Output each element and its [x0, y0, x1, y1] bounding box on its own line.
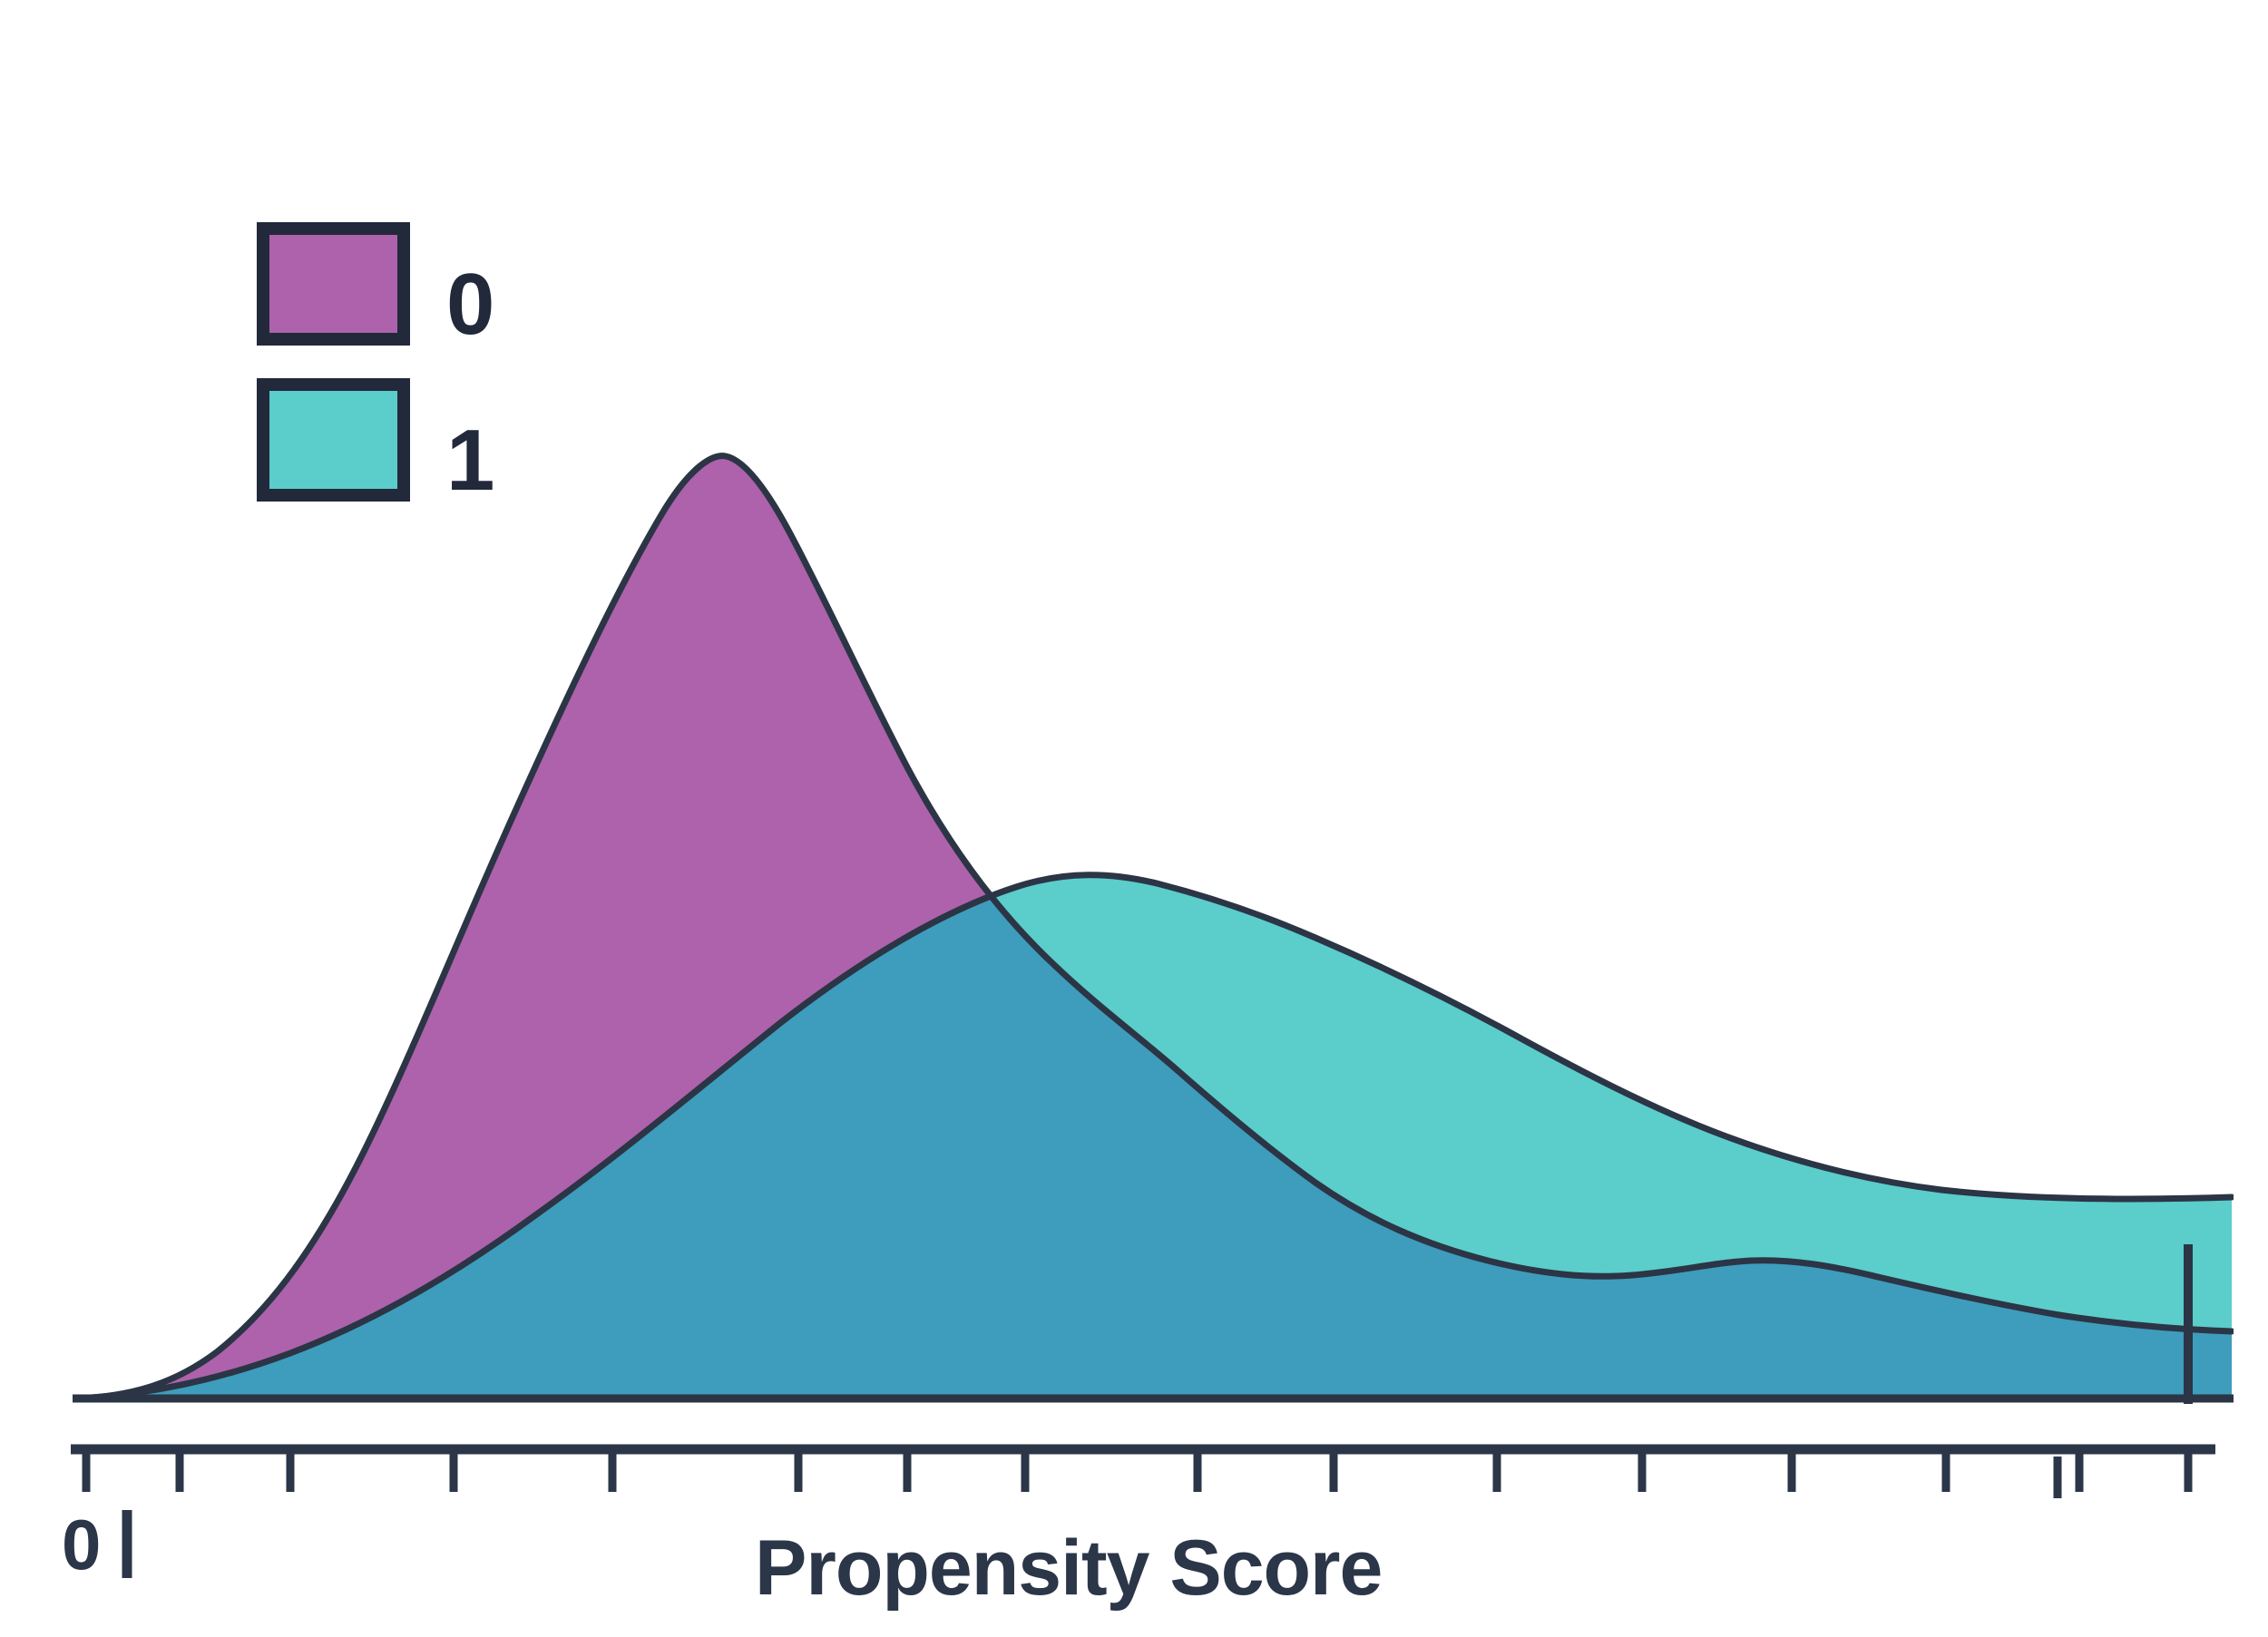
plot-area: [73, 456, 2234, 1407]
x-origin-label-group: 0: [62, 1505, 127, 1584]
legend: 0 1: [263, 229, 494, 509]
chart-svg: 0 Propensity Score 0 1: [0, 0, 2268, 1632]
legend-item-0[interactable]: 0: [263, 229, 494, 353]
x-axis-ticks: [86, 1449, 2188, 1498]
kde-chart-figure: 0 Propensity Score 0 1: [0, 0, 2268, 1632]
legend-label-1: 1: [446, 412, 494, 509]
legend-swatch-0[interactable]: [263, 229, 404, 339]
x-axis: 0 Propensity Score: [62, 1449, 2215, 1612]
x-axis-origin-label: 0: [62, 1505, 101, 1584]
legend-item-1[interactable]: 1: [263, 385, 494, 509]
legend-swatch-1[interactable]: [263, 385, 404, 495]
x-axis-title: Propensity Score: [755, 1525, 1382, 1612]
legend-label-0: 0: [446, 256, 494, 353]
